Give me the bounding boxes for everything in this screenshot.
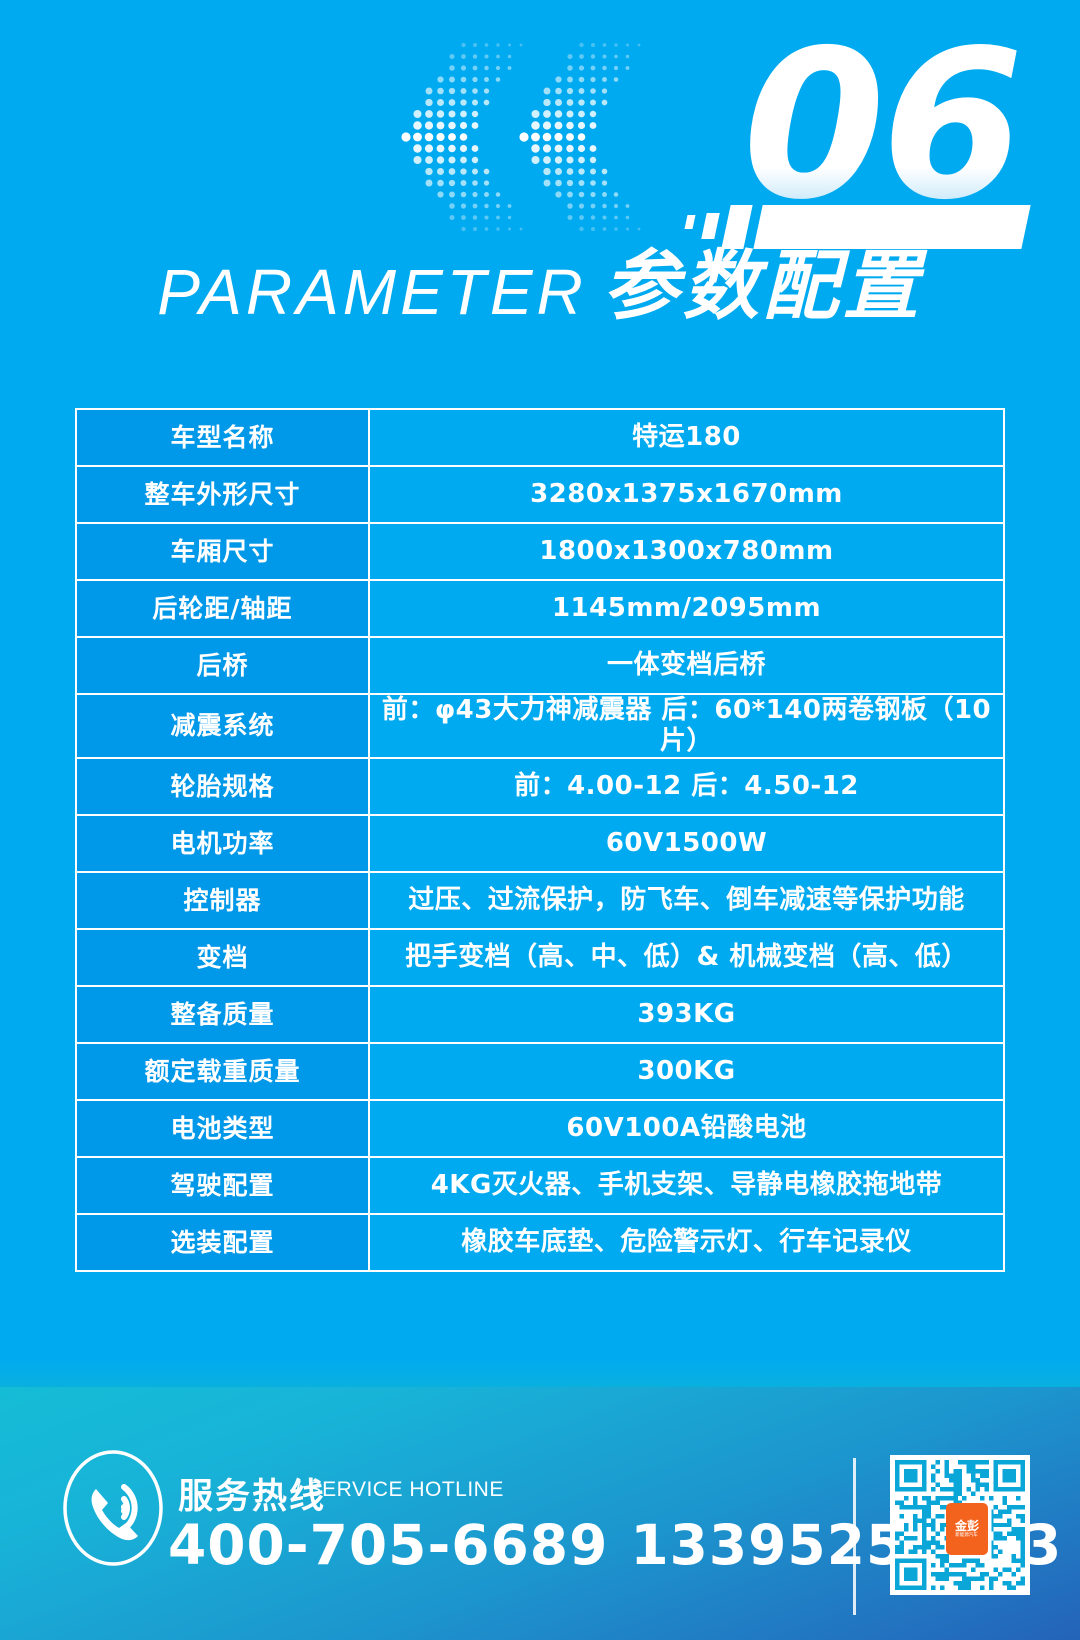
table-row: 电池类型60V100A铅酸电池: [76, 1100, 1004, 1157]
table-row: 选装配置橡胶车底垫、危险警示灯、行车记录仪: [76, 1214, 1004, 1271]
spec-value: 前：φ43大力神减震器 后：60*140两卷钢板（10片）: [369, 694, 1004, 758]
table-row: 轮胎规格前：4.00-12 后：4.50-12: [76, 758, 1004, 815]
spec-value: 1145mm/2095mm: [369, 580, 1004, 637]
speed-dash-3: [685, 215, 696, 229]
table-row: 减震系统前：φ43大力神减震器 后：60*140两卷钢板（10片）: [76, 694, 1004, 758]
spec-label: 减震系统: [76, 694, 369, 758]
spec-value: 过压、过流保护，防飞车、倒车减速等保护功能: [369, 872, 1004, 929]
qr-brand-tagline: 新能源汽车: [956, 1533, 979, 1538]
qr-brand-name: 金彭: [955, 1520, 979, 1532]
spec-value: 60V1500W: [369, 815, 1004, 872]
spec-value: 把手变档（高、中、低）& 机械变档（高、低）: [369, 929, 1004, 986]
page-title-cn: 参数配置: [603, 248, 923, 324]
page-title-en: PARAMETER: [157, 260, 587, 324]
spec-label: 驾驶配置: [76, 1157, 369, 1214]
spec-value: 393KG: [369, 986, 1004, 1043]
spec-label: 轮胎规格: [76, 758, 369, 815]
spec-table-section: 车型名称特运180整车外形尺寸3280x1375x1670mm车厢尺寸1800x…: [0, 372, 1080, 1357]
phone-primary[interactable]: 400-705-6689: [168, 1513, 608, 1577]
spec-value: 前：4.00-12 后：4.50-12: [369, 758, 1004, 815]
spec-table: 车型名称特运180整车外形尺寸3280x1375x1670mm车厢尺寸1800x…: [75, 408, 1005, 1272]
spec-label: 变档: [76, 929, 369, 986]
page-header: 06 PARAMETER 参数配置: [0, 0, 1080, 372]
spec-label: 整备质量: [76, 986, 369, 1043]
footer-fade: [0, 1357, 1080, 1387]
spec-label: 额定载重质量: [76, 1043, 369, 1100]
table-row: 驾驶配置4KG灭火器、手机支架、导静电橡胶拖地带: [76, 1157, 1004, 1214]
table-row: 车型名称特运180: [76, 409, 1004, 466]
spec-label: 后轮距/轴距: [76, 580, 369, 637]
spec-value: 3280x1375x1670mm: [369, 466, 1004, 523]
table-row: 变档把手变档（高、中、低）& 机械变档（高、低）: [76, 929, 1004, 986]
table-row: 整车外形尺寸3280x1375x1670mm: [76, 466, 1004, 523]
table-row: 后桥一体变档后桥: [76, 637, 1004, 694]
table-row: 后轮距/轴距1145mm/2095mm: [76, 580, 1004, 637]
spec-value: 4KG灭火器、手机支架、导静电橡胶拖地带: [369, 1157, 1004, 1214]
spec-label: 整车外形尺寸: [76, 466, 369, 523]
spec-value: 一体变档后桥: [369, 637, 1004, 694]
spec-label: 车型名称: [76, 409, 369, 466]
section-number: 06: [743, 24, 1020, 229]
speed-dash-2: [701, 213, 720, 239]
spec-value: 特运180: [369, 409, 1004, 466]
page-title: PARAMETER 参数配置: [0, 248, 1080, 324]
table-row: 电机功率60V1500W: [76, 815, 1004, 872]
footer-divider: [853, 1458, 856, 1615]
spec-label: 电机功率: [76, 815, 369, 872]
spec-value: 橡胶车底垫、危险警示灯、行车记录仪: [369, 1214, 1004, 1271]
spec-label: 电池类型: [76, 1100, 369, 1157]
section-number-block: 06: [648, 30, 1028, 245]
spec-value: 60V100A铅酸电池: [369, 1100, 1004, 1157]
hotline-label-en: / SERVICE HOTLINE: [295, 1478, 504, 1502]
spec-value: 300KG: [369, 1043, 1004, 1100]
spec-label: 选装配置: [76, 1214, 369, 1271]
spec-label: 控制器: [76, 872, 369, 929]
qr-brand-logo: 金彭 新能源汽车: [946, 1503, 988, 1555]
spec-label: 后桥: [76, 637, 369, 694]
table-row: 额定载重质量300KG: [76, 1043, 1004, 1100]
spec-label: 车厢尺寸: [76, 523, 369, 580]
spec-value: 1800x1300x780mm: [369, 523, 1004, 580]
phone-ringing-icon: [62, 1449, 164, 1567]
table-row: 整备质量393KG: [76, 986, 1004, 1043]
table-row: 控制器过压、过流保护，防飞车、倒车减速等保护功能: [76, 872, 1004, 929]
table-row: 车厢尺寸1800x1300x780mm: [76, 523, 1004, 580]
